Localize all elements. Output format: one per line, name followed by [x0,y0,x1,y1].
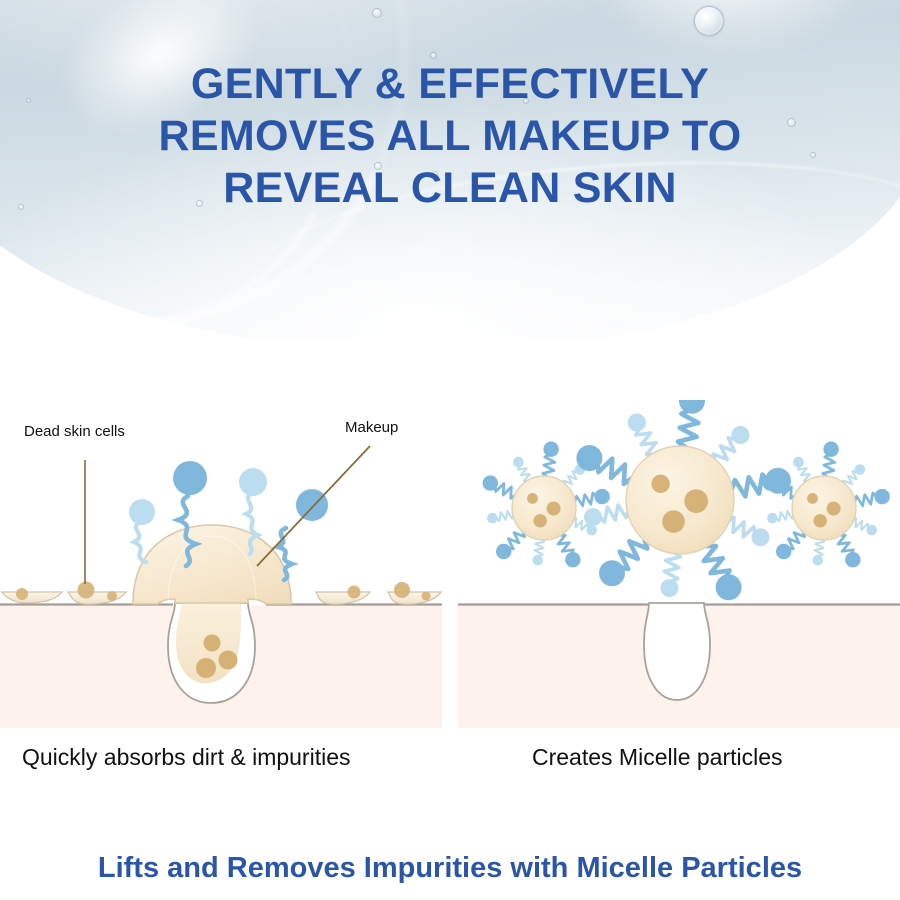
bubble-large [694,6,724,36]
surfactant-head [586,525,597,536]
impurity-dot [547,502,561,516]
micelle-group [483,400,890,600]
makeup-dome [133,525,291,604]
surfactant-head [855,464,866,475]
bubble [372,8,382,18]
headline-line-2: REMOVES ALL MAKEUP TO [0,110,900,162]
surfactant-tail [664,550,680,583]
surfactant-head [845,552,860,567]
impurity-dot [527,493,538,504]
dead-skin-cell [68,582,126,605]
impurity-dot [807,493,818,504]
surfactant-head [576,445,602,471]
label-makeup: Makeup [345,419,398,436]
panel-absorption-stage: Dead skin cells Makeup [0,400,442,730]
surfactant-head [594,489,609,504]
caption-row: Quickly absorbs dirt & impurities Create… [0,744,900,784]
surfactant-head [793,457,804,468]
surfactant-tail [678,408,698,450]
headline-line-3: REVEAL CLEAN SKIN [0,162,900,214]
surfactant-head [487,513,498,524]
surfactant-head [812,555,823,566]
surfactant-tail [495,511,514,521]
surfactant-head [763,475,778,490]
dead-skin-cell [388,582,441,604]
footer-tagline: Lifts and Removes Impurities with Micell… [0,852,900,885]
surfactant-head [823,442,838,457]
surfactant-head [565,552,580,567]
panel-micelle-stage [458,400,900,730]
surfactant-head [716,574,742,600]
label-dead-skin-cells: Dead skin cells [24,423,125,440]
headline-line-1: GENTLY & EFFECTIVELY [0,58,900,110]
surfactant-tail [775,511,794,521]
surfactant-head [532,555,543,566]
surfactant-tail [823,454,835,479]
micelle-core [512,476,576,540]
sebum-dot [219,651,238,670]
dead-skin-cell [316,586,370,605]
leader-line-makeup [257,446,370,566]
surfactant-head [584,508,602,526]
surfactant-tail [543,454,555,479]
impurity-dot [651,475,669,493]
pore-clogged [168,603,255,703]
surfactant-head [513,457,524,468]
sebum-dot [204,635,221,652]
page-title: GENTLY & EFFECTIVELY REMOVES ALL MAKEUP … [0,58,900,214]
impurity-dot [814,514,827,527]
diagram-row: Dead skin cells Makeup [0,400,900,740]
surfactant-head [483,475,498,490]
sebum-dot [196,658,216,678]
surfactant-head [628,414,646,432]
surfactant-head [543,442,558,457]
infographic-canvas: GENTLY & EFFECTIVELY REMOVES ALL MAKEUP … [0,0,900,900]
surfactant-head [660,579,678,597]
impurity-dot [684,489,708,513]
surfactant-head [866,525,877,536]
micelle-core [626,446,734,554]
surfactant-head [599,560,625,586]
impurity-dot [662,510,685,533]
surfactant-head [496,544,511,559]
surfactant-head [776,544,791,559]
surfactant-head [874,489,889,504]
surfactant-tail [597,505,629,522]
micelle-core [792,476,856,540]
micelle-small-right [763,442,890,568]
caption-absorption: Quickly absorbs dirt & impurities [22,744,351,771]
surfactant-head [767,513,778,524]
caption-micelle: Creates Micelle particles [532,744,783,771]
surfactant-head [752,528,770,546]
dead-skin-cell [2,588,62,603]
surfactant-head [731,426,749,444]
impurity-dot [534,514,547,527]
impurity-dot [827,502,841,516]
pore-clean [644,603,710,700]
